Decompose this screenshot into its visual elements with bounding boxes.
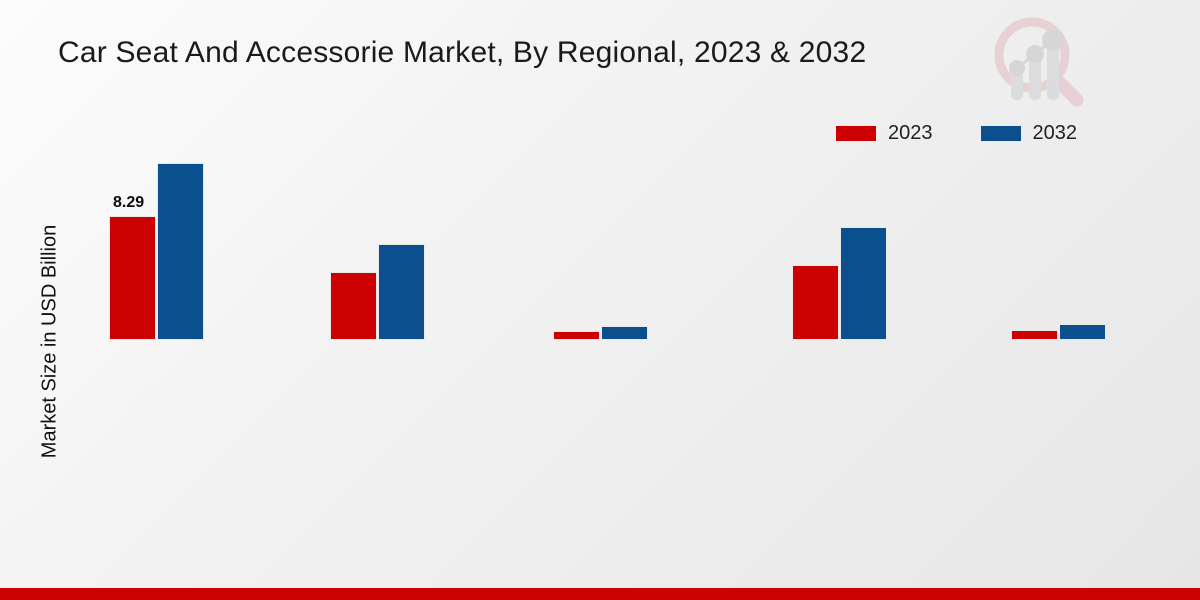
chart-title: Car Seat And Accessorie Market, By Regio… <box>58 36 866 70</box>
value-label-2023-north-america: 8.29 <box>113 194 144 212</box>
legend-item-2032[interactable]: 2032 <box>981 122 1078 145</box>
chart-legend: 2023 2032 <box>836 122 1077 145</box>
bar-2032-middle-east-and-africa[interactable] <box>1059 324 1106 340</box>
chart-page: Car Seat And Accessorie Market, By Regio… <box>0 0 1200 600</box>
brand-watermark-logo <box>985 12 1090 110</box>
magnifier-icon <box>999 22 1077 100</box>
bar-2032-south-america[interactable] <box>601 326 648 340</box>
bar-2023-south-america[interactable] <box>553 331 600 340</box>
legend-label-2023: 2023 <box>888 122 933 145</box>
bar-2032-north-america[interactable] <box>157 163 204 340</box>
trend-dots-icon <box>1009 29 1064 76</box>
legend-label-2032: 2032 <box>1033 122 1078 145</box>
bar-2023-middle-east-and-africa[interactable] <box>1011 330 1058 340</box>
bar-chart-icon <box>1011 42 1059 100</box>
bar-2023-asia-pacific[interactable] <box>792 265 839 340</box>
bar-2023-europe[interactable] <box>330 272 377 340</box>
legend-swatch-2023 <box>836 126 876 141</box>
legend-swatch-2032 <box>981 126 1021 141</box>
bar-2032-europe[interactable] <box>378 244 425 340</box>
bar-2032-asia-pacific[interactable] <box>840 227 887 340</box>
bar-2023-north-america[interactable] <box>109 216 156 340</box>
footer-accent-bar <box>0 588 1200 600</box>
plot-area: 8.29 NORTH AMERICA EUROPE SOUTH AMERICA <box>40 170 1200 470</box>
legend-item-2023[interactable]: 2023 <box>836 122 933 145</box>
